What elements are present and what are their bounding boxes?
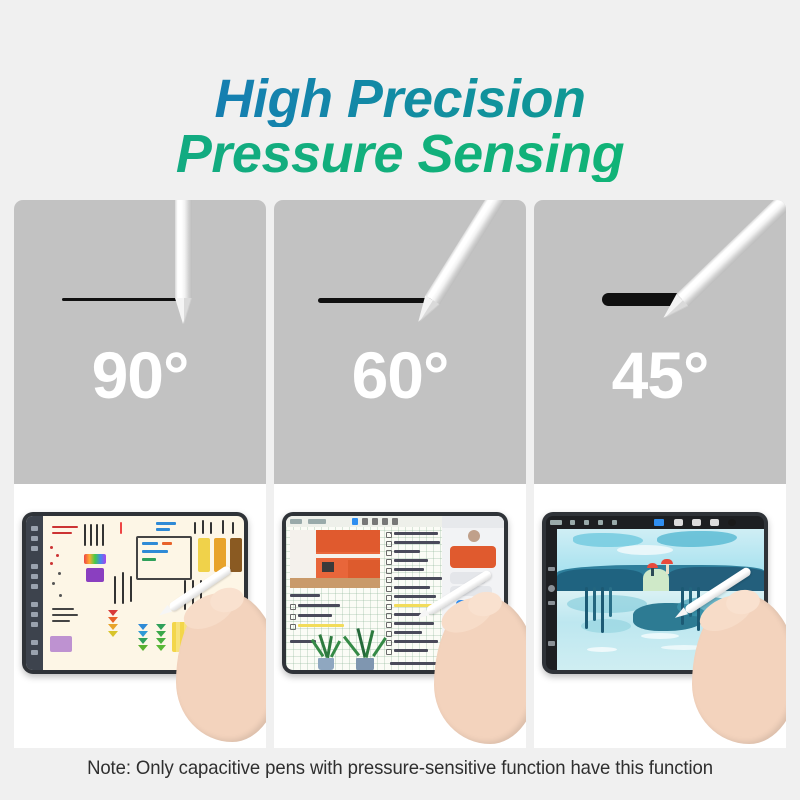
smudge-tool[interactable] (674, 519, 683, 526)
angle-column-90: 90° (14, 200, 266, 748)
stylus-barrel (175, 200, 192, 298)
notes-toolbar-sidebar (26, 516, 43, 670)
chevron-stack-warm (108, 610, 118, 637)
stroke-mark-60 (318, 298, 432, 303)
title-line-2: Pressure Sensing (0, 127, 800, 182)
eraser-tool[interactable] (692, 519, 701, 526)
usage-photo-split-screen (274, 484, 526, 748)
stylus-tip-shade (184, 298, 192, 324)
painting-app-toolbar (546, 516, 764, 529)
angle-column-45: 45° (534, 200, 786, 748)
chevron-stack-cool (138, 624, 148, 651)
title-line-1: High Precision (0, 72, 800, 127)
angle-card-90: 90° (14, 200, 266, 484)
painting-app-sidebar (546, 529, 557, 670)
color-swatch[interactable] (728, 519, 736, 526)
usage-photo-painting (534, 484, 786, 748)
layers-tool[interactable] (710, 519, 719, 526)
stylus-barrel (677, 200, 786, 306)
stroke-mark-90 (62, 298, 184, 301)
page-title: High Precision Pressure Sensing (0, 72, 800, 182)
angle-column-60: 60° (274, 200, 526, 748)
product-feature-poster: High Precision Pressure Sensing 90° (0, 0, 800, 800)
angle-label-60: 60° (274, 342, 526, 408)
chevron-stack-green (156, 624, 166, 651)
angle-demo-columns: 90° (14, 200, 786, 748)
stylus-barrel (425, 200, 515, 305)
stylus-45 (677, 200, 786, 306)
angle-card-60: 60° (274, 200, 526, 484)
stylus-90 (175, 200, 192, 298)
usage-photo-notes (14, 484, 266, 748)
angle-label-90: 90° (14, 342, 266, 408)
angle-card-45: 45° (534, 200, 786, 484)
angle-label-45: 45° (534, 342, 786, 408)
embedded-kitchen-photo (290, 530, 380, 588)
brush-tool-active[interactable] (654, 519, 664, 526)
footnote: Note: Only capacitive pens with pressure… (20, 757, 780, 780)
stylus-60 (425, 200, 515, 305)
